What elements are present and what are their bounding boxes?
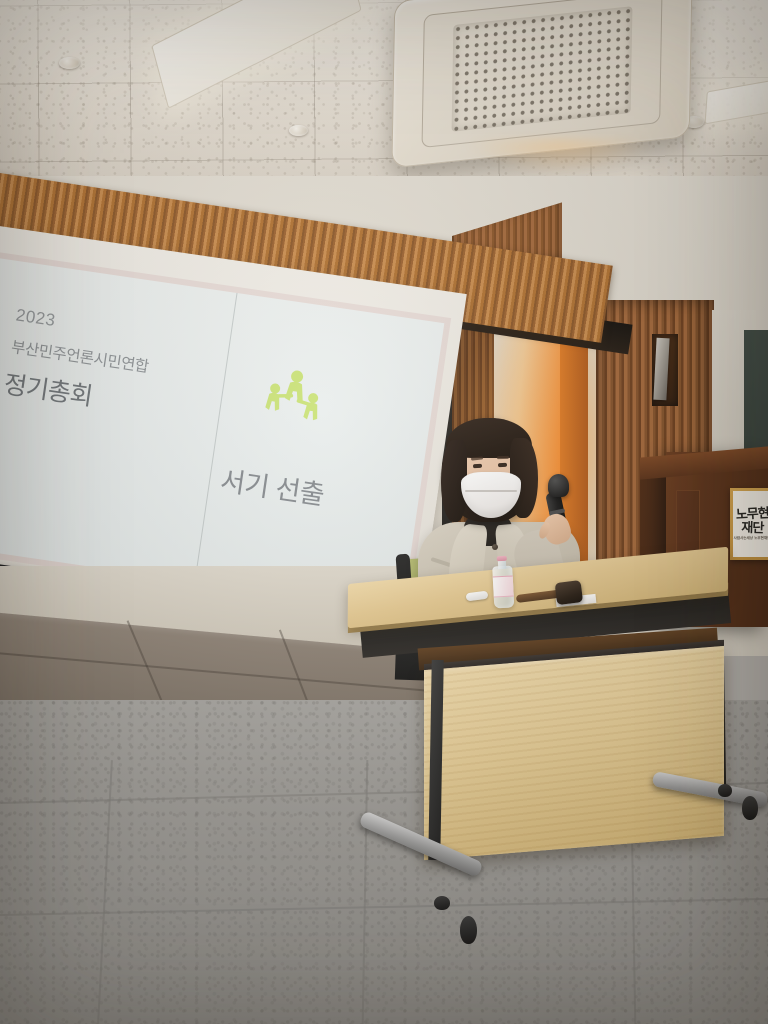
table-caster xyxy=(434,896,450,910)
table-modesty-panel xyxy=(424,646,724,860)
table-caster xyxy=(460,916,477,944)
podium-sign-line3: 사람사는세상 노무현재단 xyxy=(734,537,768,541)
podium-sign-line2: 재단 xyxy=(733,521,768,535)
projected-slide: 2023 부산민주언론시민연합 정기총회 서기 선출 xyxy=(0,257,444,613)
conference-room-photo: 2023 부산민주언론시민연합 정기총회 서기 선출 xyxy=(0,0,768,1024)
gavel-head xyxy=(555,580,583,605)
slide-year: 2023 xyxy=(15,305,57,331)
eye-left xyxy=(473,464,482,468)
ac-grille xyxy=(452,6,633,132)
table-caster xyxy=(718,784,732,797)
slide-title: 정기총회 xyxy=(2,364,95,412)
bottle-label xyxy=(493,575,514,597)
slide-divider xyxy=(194,293,237,582)
three-figures-logo xyxy=(257,365,331,434)
mask-pleat xyxy=(465,490,517,492)
sprinkler-head-icon xyxy=(289,125,308,136)
water-bottle xyxy=(492,556,515,609)
podium-sign-plaque: 노무현 재단 사람사는세상 노무현재단 xyxy=(730,488,768,560)
wood-grain xyxy=(424,646,724,860)
slide-subject: 서기 선출 xyxy=(218,459,327,513)
coat-button xyxy=(492,544,498,550)
microphone-head xyxy=(548,474,569,497)
eye-right xyxy=(498,463,507,467)
ac-under-glow xyxy=(470,140,650,174)
table-caster xyxy=(742,796,758,820)
eyebrow-right xyxy=(497,456,509,459)
bottle-cap xyxy=(497,556,507,562)
podium-sign-inner: 노무현 재단 사람사는세상 노무현재단 xyxy=(733,491,768,557)
gavel-handle xyxy=(516,590,561,603)
sprinkler-head-icon xyxy=(59,57,80,69)
podium-sign-line1: 노무현 xyxy=(733,507,768,522)
